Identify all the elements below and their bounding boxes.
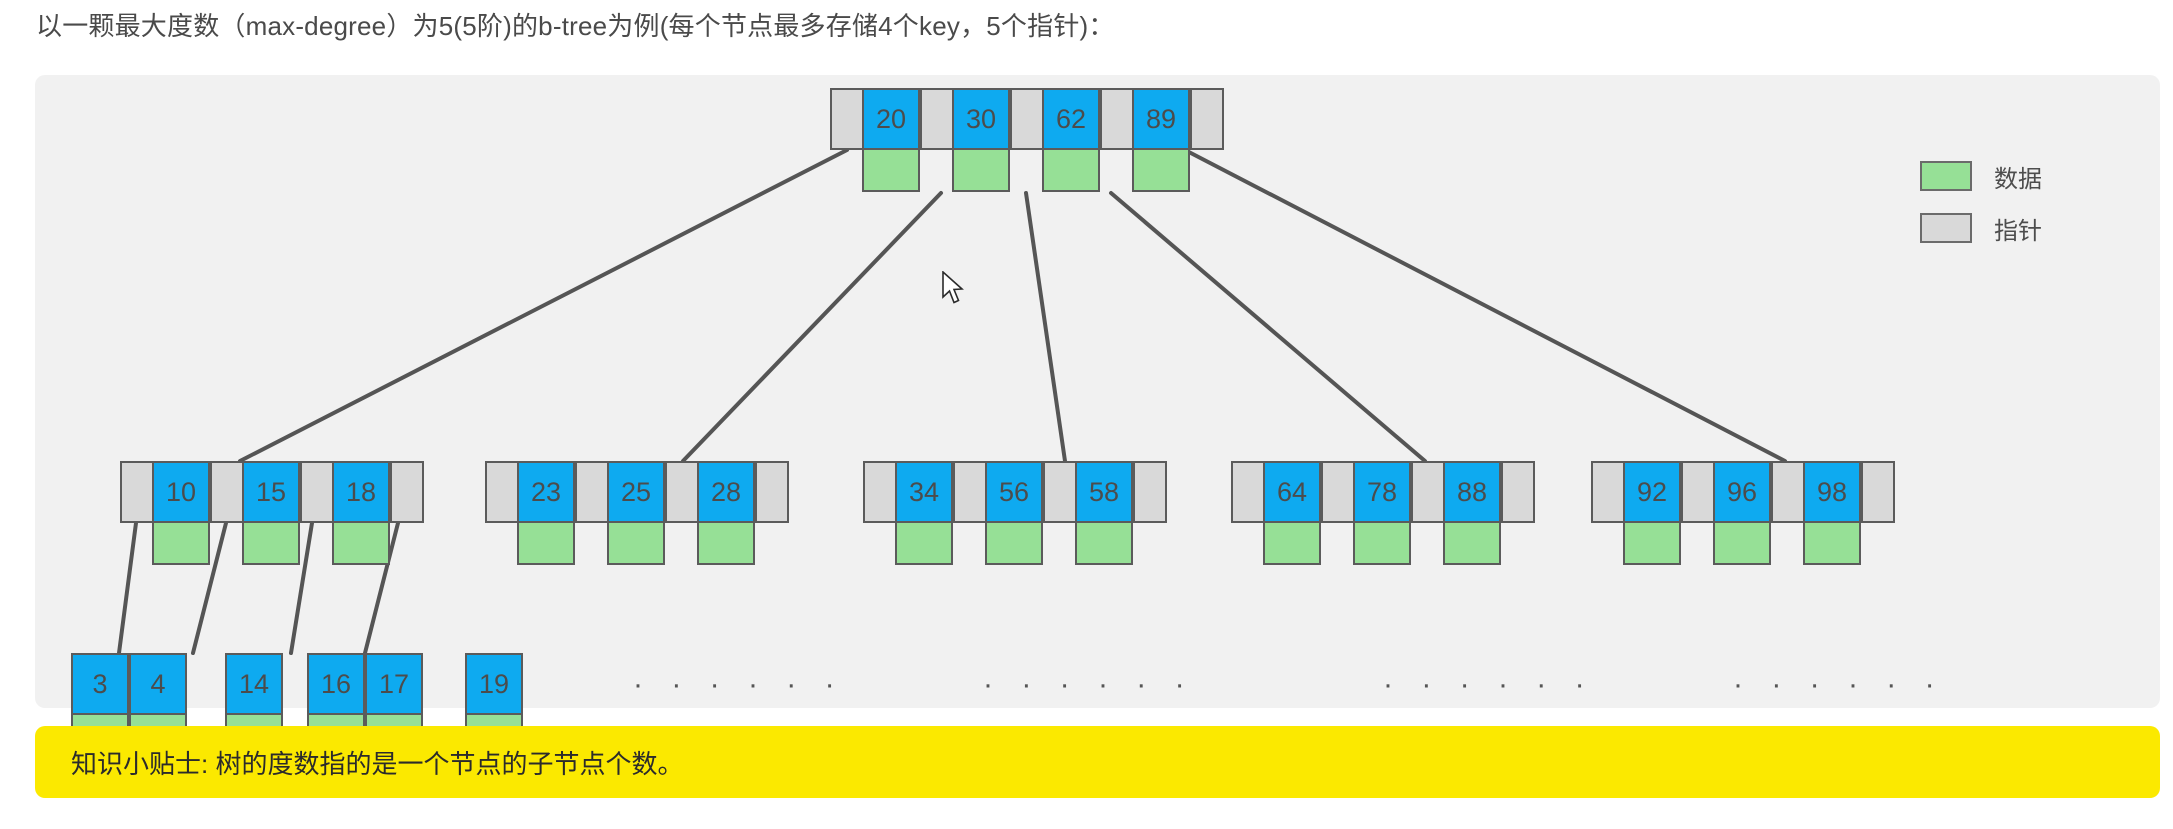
key-cell[interactable]: 34 — [895, 461, 953, 523]
elision-dots-2: · · · · · · — [983, 670, 1195, 700]
pointer-cell — [863, 461, 897, 523]
data-cell — [1713, 523, 1771, 565]
key-slot: 20 — [862, 88, 920, 192]
key-slot: 92 — [1623, 461, 1681, 565]
data-cell — [1443, 523, 1501, 565]
key-slot: 78 — [1353, 461, 1411, 565]
pointer-cell — [1681, 461, 1715, 523]
page-root: 以一颗最大度数（max-degree）为5(5阶)的b-tree为例(每个节点最… — [0, 0, 2173, 829]
data-cell — [985, 523, 1043, 565]
key-slot: 89 — [1132, 88, 1190, 192]
key-cell[interactable]: 30 — [952, 88, 1010, 150]
pointer-cell — [485, 461, 519, 523]
data-cell — [697, 523, 755, 565]
key-slot: 18 — [332, 461, 390, 565]
key-slot: 62 — [1042, 88, 1100, 192]
pointer-cell — [953, 461, 987, 523]
mouse-cursor-icon — [940, 271, 966, 305]
key-slot: 34 — [895, 461, 953, 565]
btree-node-root[interactable]: 20 30 62 89 — [830, 88, 1222, 192]
btree-diagram-panel: 20 30 62 89 10 — [35, 75, 2160, 708]
key-slot: 58 — [1075, 461, 1133, 565]
data-cell — [517, 523, 575, 565]
tip-banner: 知识小贴士: 树的度数指的是一个节点的子节点个数。 — [35, 726, 2160, 798]
data-cell — [1042, 150, 1100, 192]
pointer-cell — [1043, 461, 1077, 523]
pointer-cell — [1133, 461, 1167, 523]
data-cell — [152, 523, 210, 565]
key-cell[interactable]: 28 — [697, 461, 755, 523]
pointer-cell — [120, 461, 154, 523]
key-cell[interactable]: 64 — [1263, 461, 1321, 523]
data-cell — [607, 523, 665, 565]
btree-node-internal-2[interactable]: 23 25 28 — [485, 461, 787, 565]
data-cell — [952, 150, 1010, 192]
pointer-cell — [920, 88, 954, 150]
key-slot: 25 — [607, 461, 665, 565]
key-cell[interactable]: 17 — [365, 653, 423, 715]
btree-node-internal-5[interactable]: 92 96 98 — [1591, 461, 1893, 565]
pointer-cell — [755, 461, 789, 523]
key-cell[interactable]: 19 — [465, 653, 523, 715]
key-slot: 56 — [985, 461, 1043, 565]
pointer-cell — [1100, 88, 1134, 150]
data-cell — [1075, 523, 1133, 565]
legend: 数据 指针 — [1920, 150, 2120, 254]
data-cell — [1353, 523, 1411, 565]
pointer-cell — [1771, 461, 1805, 523]
green-square-icon — [1920, 161, 1972, 191]
pointer-cell — [1190, 88, 1224, 150]
key-cell[interactable]: 78 — [1353, 461, 1411, 523]
btree-node-internal-3[interactable]: 34 56 58 — [863, 461, 1165, 565]
key-cell[interactable]: 58 — [1075, 461, 1133, 523]
key-slot: 30 — [952, 88, 1010, 192]
pointer-cell — [1861, 461, 1895, 523]
pointer-cell — [1321, 461, 1355, 523]
pointer-cell — [1231, 461, 1265, 523]
data-cell — [1623, 523, 1681, 565]
key-cell[interactable]: 18 — [332, 461, 390, 523]
key-cell[interactable]: 14 — [225, 653, 283, 715]
pointer-cell — [575, 461, 609, 523]
pointer-cell — [1501, 461, 1535, 523]
data-cell — [332, 523, 390, 565]
pointer-cell — [210, 461, 244, 523]
pointer-cell — [1591, 461, 1625, 523]
edge-root-to-n3 — [1026, 193, 1065, 461]
elision-dots-4: · · · · · · — [1733, 670, 1945, 700]
key-slot: 64 — [1263, 461, 1321, 565]
elision-dots-3: · · · · · · — [1383, 670, 1595, 700]
key-slot: 23 — [517, 461, 575, 565]
data-cell — [1132, 150, 1190, 192]
key-cell[interactable]: 10 — [152, 461, 210, 523]
gray-square-icon — [1920, 213, 1972, 243]
key-cell[interactable]: 89 — [1132, 88, 1190, 150]
data-cell — [242, 523, 300, 565]
key-cell[interactable]: 20 — [862, 88, 920, 150]
key-cell[interactable]: 15 — [242, 461, 300, 523]
edge-root-to-n5 — [1185, 150, 1785, 461]
pointer-cell — [1010, 88, 1044, 150]
page-caption: 以一颗最大度数（max-degree）为5(5阶)的b-tree为例(每个节点最… — [36, 8, 1115, 44]
pointer-cell — [830, 88, 864, 150]
key-cell[interactable]: 4 — [129, 653, 187, 715]
legend-item-label: 数据 — [1994, 159, 2042, 194]
tip-text: 知识小贴士: 树的度数指的是一个节点的子节点个数。 — [71, 744, 683, 781]
key-cell[interactable]: 62 — [1042, 88, 1100, 150]
key-slot: 15 — [242, 461, 300, 565]
pointer-cell — [390, 461, 424, 523]
data-cell — [1263, 523, 1321, 565]
key-cell[interactable]: 25 — [607, 461, 665, 523]
legend-item-label: 指针 — [1994, 211, 2042, 246]
pointer-cell — [300, 461, 334, 523]
elision-dots-1: · · · · · · — [633, 670, 845, 700]
key-slot: 28 — [697, 461, 755, 565]
key-cell[interactable]: 96 — [1713, 461, 1771, 523]
legend-item-data: 数据 — [1920, 150, 2120, 202]
key-slot: 96 — [1713, 461, 1771, 565]
key-cell[interactable]: 3 — [71, 653, 129, 715]
edge-root-to-n4 — [1111, 193, 1425, 461]
data-cell — [862, 150, 920, 192]
key-slot: 98 — [1803, 461, 1861, 565]
btree-node-internal-4[interactable]: 64 78 88 — [1231, 461, 1533, 565]
key-cell[interactable]: 92 — [1623, 461, 1681, 523]
data-cell — [1803, 523, 1861, 565]
pointer-cell — [1411, 461, 1445, 523]
edge-root-to-n1 — [240, 150, 847, 461]
data-cell — [895, 523, 953, 565]
key-cell[interactable]: 98 — [1803, 461, 1861, 523]
edge-root-to-n2 — [683, 193, 941, 461]
key-cell[interactable]: 16 — [307, 653, 365, 715]
key-cell[interactable]: 56 — [985, 461, 1043, 523]
key-slot: 10 — [152, 461, 210, 565]
key-cell[interactable]: 88 — [1443, 461, 1501, 523]
legend-item-pointer: 指针 — [1920, 202, 2120, 254]
key-cell[interactable]: 23 — [517, 461, 575, 523]
btree-node-internal-1[interactable]: 10 15 18 — [120, 461, 422, 565]
key-slot: 88 — [1443, 461, 1501, 565]
pointer-cell — [665, 461, 699, 523]
